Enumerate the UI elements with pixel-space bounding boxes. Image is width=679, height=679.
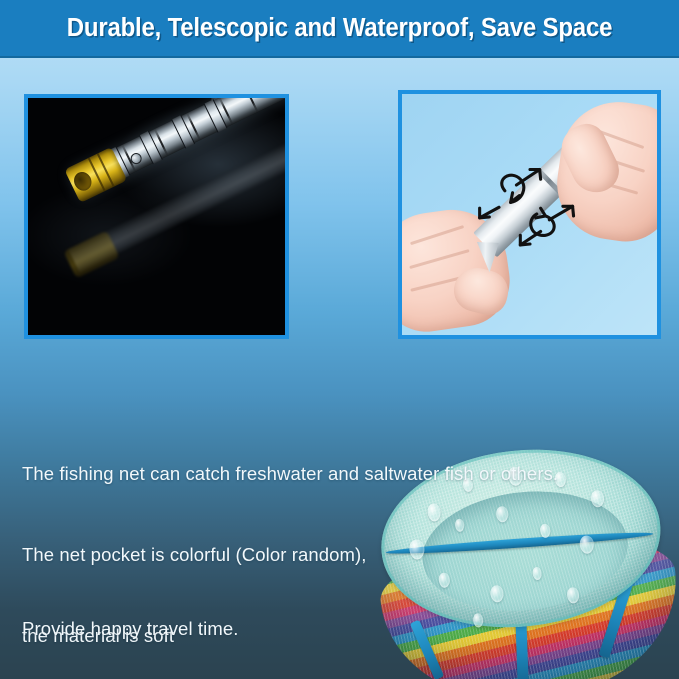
page-title: Durable, Telescopic and Waterproof, Save… bbox=[20, 0, 658, 56]
copy-line: The fishing net can catch freshwater and… bbox=[22, 460, 558, 487]
feature-copy-bottom: Provide happy travel time. Suitable for … bbox=[22, 561, 322, 679]
finger-crease bbox=[409, 249, 469, 269]
gold-cap-thread-hole bbox=[71, 169, 95, 194]
header-banner: Durable, Telescopic and Waterproof, Save… bbox=[0, 0, 679, 58]
pole-segment-line bbox=[244, 94, 259, 113]
finger-crease bbox=[410, 225, 464, 245]
product-feature-image: Durable, Telescopic and Waterproof, Save… bbox=[0, 0, 679, 679]
photo-frame-twist-demo bbox=[398, 90, 661, 339]
copy-line: Provide happy travel time. bbox=[22, 615, 322, 642]
photo-frame-telescopic-pole bbox=[24, 94, 289, 339]
